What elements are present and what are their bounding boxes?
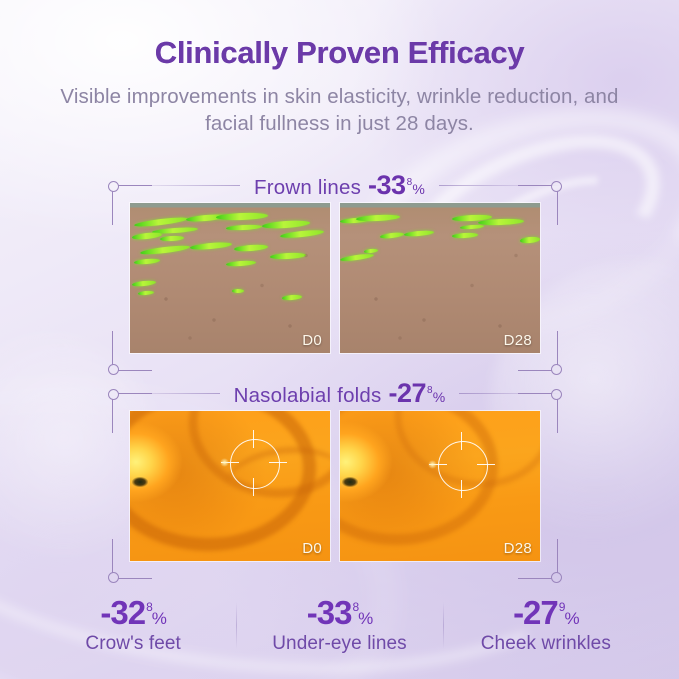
clinical-photo-frown-d0: D0 xyxy=(130,203,330,353)
day-tag-before: D0 xyxy=(302,332,322,349)
section-value: -27 xyxy=(388,378,426,409)
stat-decimal: 9 xyxy=(559,601,565,614)
section-decimal: 8 xyxy=(407,177,413,188)
clinical-photo-nasolabial-d28: D28 xyxy=(340,411,540,561)
bracket-line-h xyxy=(118,370,152,371)
clinical-photo-nasolabial-d0: D0 xyxy=(130,411,330,561)
bracket-line-h xyxy=(118,578,152,579)
day-tag-after: D28 xyxy=(504,540,532,557)
section-label-nasolabial-folds: Nasolabial folds -27 8 % xyxy=(234,378,446,409)
bracket-line-v xyxy=(557,331,558,365)
section-header-frown-lines: Frown lines -33 8 % xyxy=(118,170,561,201)
panel-group-frown-lines: D0 D28 xyxy=(130,203,540,353)
stat-label: Cheek wrinkles xyxy=(443,633,649,655)
section-header-nasolabial-folds: Nasolabial folds -27 8 % xyxy=(118,378,561,409)
bracket-dot-icon xyxy=(551,364,562,375)
section-title-text: Nasolabial folds xyxy=(234,384,382,408)
day-tag-before: D0 xyxy=(302,540,322,557)
bracket-dot-icon xyxy=(108,572,119,583)
thermal-marker-icon xyxy=(342,477,358,487)
stat-crows-feet: -32 8 % Crow's feet xyxy=(30,596,236,655)
section-unit: % xyxy=(412,181,425,197)
bracket-dot-icon xyxy=(108,364,119,375)
stat-value: -27 xyxy=(513,596,558,631)
stat-value: -33 xyxy=(307,596,352,631)
stat-unit: % xyxy=(358,610,372,628)
section-rule-right xyxy=(459,393,561,394)
section-unit: % xyxy=(433,389,446,405)
bracket-line-h xyxy=(518,578,552,579)
bracket-line-h xyxy=(518,370,552,371)
stat-cheek-wrinkles: -27 9 % Cheek wrinkles xyxy=(443,596,649,655)
section-value: -33 xyxy=(368,170,406,201)
stat-decimal: 8 xyxy=(352,601,358,614)
stat-label: Crow's feet xyxy=(30,633,236,655)
stat-unit: % xyxy=(564,610,578,628)
image-pair-frown-lines: D0 D28 xyxy=(130,203,540,353)
bracket-line-v xyxy=(112,191,113,225)
section-rule-right xyxy=(439,185,561,186)
page-title: Clinically Proven Efficacy xyxy=(0,34,679,71)
stat-value-group: -27 9 % xyxy=(513,596,579,631)
stat-value: -32 xyxy=(100,596,145,631)
stats-row: -32 8 % Crow's feet -33 8 % Under-eye li… xyxy=(30,596,649,655)
efficacy-infographic: Clinically Proven Efficacy Visible impro… xyxy=(0,0,679,679)
day-tag-after: D28 xyxy=(504,332,532,349)
bracket-line-v xyxy=(112,539,113,573)
panel-group-nasolabial-folds: D0 D28 xyxy=(130,411,540,561)
thermal-marker-icon xyxy=(132,477,148,487)
section-label-frown-lines: Frown lines -33 8 % xyxy=(254,170,425,201)
stat-label: Under-eye lines xyxy=(236,633,442,655)
clinical-photo-frown-d28: D28 xyxy=(340,203,540,353)
page-subtitle: Visible improvements in skin elasticity,… xyxy=(40,83,640,137)
stat-value-group: -33 8 % xyxy=(307,596,373,631)
section-rule-left xyxy=(118,185,240,186)
bracket-dot-icon xyxy=(551,572,562,583)
image-pair-nasolabial-folds: D0 D28 xyxy=(130,411,540,561)
section-rule-left xyxy=(118,393,220,394)
stat-unit: % xyxy=(152,610,166,628)
stat-under-eye-lines: -33 8 % Under-eye lines xyxy=(236,596,442,655)
bracket-line-v xyxy=(112,331,113,365)
section-decimal: 8 xyxy=(427,385,433,396)
header-block: Clinically Proven Efficacy Visible impro… xyxy=(0,34,679,137)
bracket-line-v xyxy=(557,539,558,573)
bracket-line-v xyxy=(112,399,113,433)
section-title-text: Frown lines xyxy=(254,176,361,200)
stat-value-group: -32 8 % xyxy=(100,596,166,631)
stat-decimal: 8 xyxy=(146,601,152,614)
